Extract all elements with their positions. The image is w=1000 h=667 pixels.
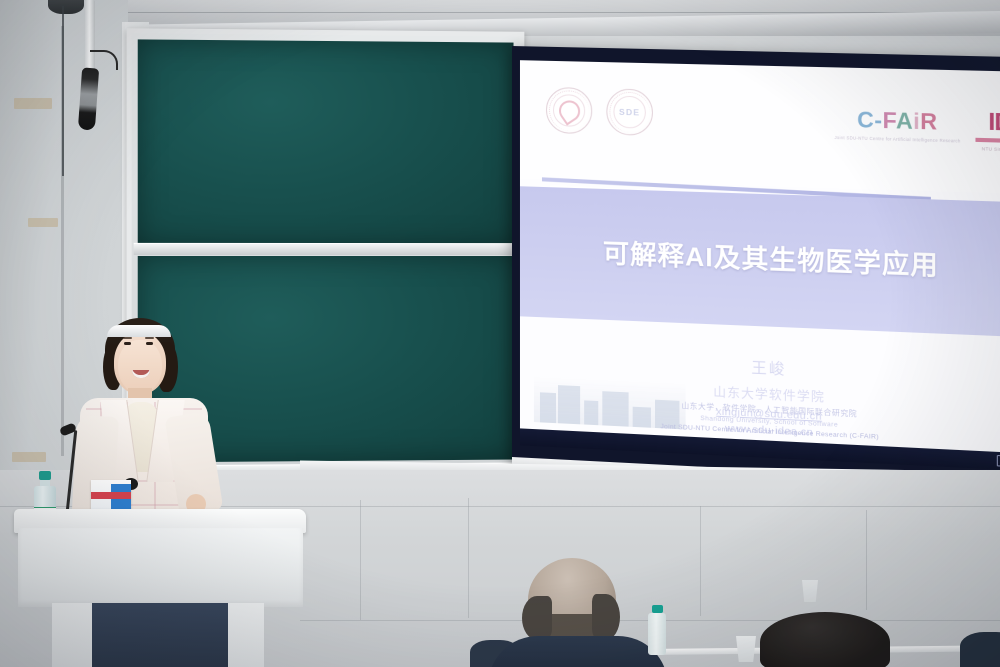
ntu-mark: ID bbox=[969, 110, 1000, 136]
sdu-seal-icon bbox=[546, 87, 592, 134]
presenter-headband bbox=[107, 325, 171, 337]
cfair-f: F bbox=[883, 107, 896, 133]
cfair-a: A bbox=[896, 108, 913, 134]
sde-seal-icon: SDE bbox=[606, 88, 653, 136]
ceiling-speaker-icon bbox=[48, 0, 84, 14]
cfair-r: R bbox=[920, 108, 937, 134]
ntu-logo: ID NTU Singapore bbox=[969, 110, 1000, 153]
hanging-wire bbox=[62, 6, 64, 176]
projection-screen: SDE C-FAiR Joint SDU-NTU Centre for Arti… bbox=[512, 46, 1000, 498]
audience-member-front bbox=[500, 558, 650, 667]
slide-body: 王峻 山东大学软件学院 xingjun@sdu.edu.cn www.sdu-i… bbox=[520, 316, 1000, 471]
slide-header: SDE C-FAiR Joint SDU-NTU Centre for Arti… bbox=[520, 60, 1000, 194]
cfair-subtitle: Joint SDU-NTU Centre for Artificial Inte… bbox=[834, 135, 960, 144]
slide-logo-row: SDE bbox=[546, 87, 653, 136]
cfair-i: i bbox=[913, 108, 920, 134]
lecture-hall-photo: SDE C-FAiR Joint SDU-NTU Centre for Arti… bbox=[0, 0, 1000, 667]
ntu-subtitle: NTU Singapore bbox=[969, 146, 1000, 153]
presenter-eye-right bbox=[146, 342, 153, 345]
mic-cable bbox=[90, 50, 118, 70]
audience-member-right bbox=[760, 612, 900, 667]
water-bottle-table bbox=[648, 605, 666, 655]
presenter-eye-left bbox=[124, 342, 131, 345]
audience-member-far-right bbox=[960, 632, 1000, 667]
podium-monitor bbox=[92, 603, 228, 667]
paper-cup-far bbox=[802, 580, 818, 602]
cfair-c: C- bbox=[857, 107, 882, 133]
cfair-logo: C-FAiR Joint SDU-NTU Centre for Artifici… bbox=[834, 108, 960, 143]
presentation-slide: SDE C-FAiR Joint SDU-NTU Centre for Arti… bbox=[520, 60, 1000, 471]
podium-front-panel: UNIVERSITY OF JINAN 济 南 大 学 bbox=[18, 528, 303, 607]
blackboard-rail-middle bbox=[134, 243, 518, 255]
presenter-face bbox=[118, 340, 162, 394]
blackboard-panel-upper bbox=[138, 39, 514, 246]
paper-cup bbox=[736, 636, 756, 662]
